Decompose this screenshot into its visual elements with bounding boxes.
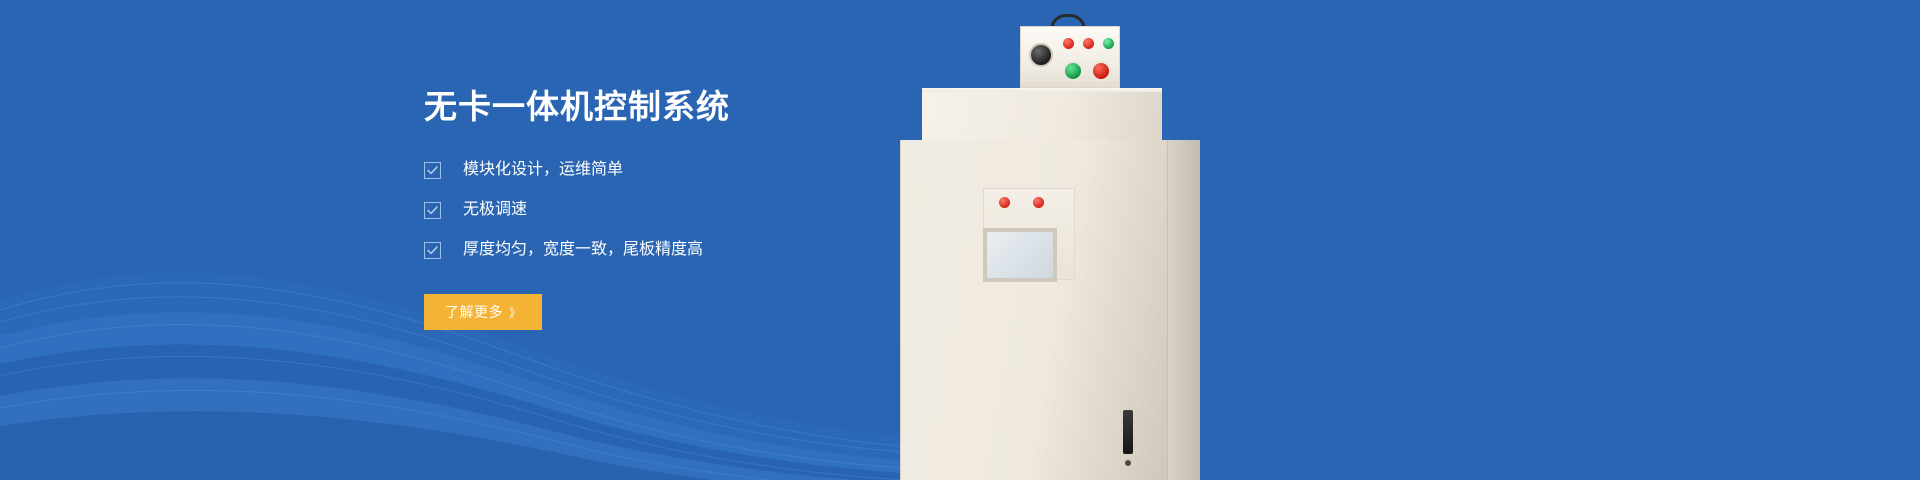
stop-button-red[interactable] [1091, 61, 1111, 81]
indicator-lamp-red-2 [1083, 38, 1094, 49]
door-lamp-red-1 [999, 197, 1010, 208]
feature-label: 模块化设计，运维简单 [463, 160, 623, 180]
feature-label: 厚度均匀，宽度一致，尾板精度高 [463, 240, 703, 260]
door-lamp-red-2 [1033, 197, 1044, 208]
cabinet-top-hood [922, 92, 1162, 140]
hero-banner: 无卡一体机控制系统 模块化设计，运维简单 无极调速 [0, 0, 1920, 480]
learn-more-button[interactable]: 了解更多 》 [424, 294, 542, 330]
start-button-green[interactable] [1063, 61, 1083, 81]
door-handle[interactable] [1123, 410, 1133, 454]
hmi-touch-screen[interactable] [983, 228, 1057, 282]
feature-item-2: 无极调速 [424, 200, 944, 220]
door-lock-dot [1125, 460, 1131, 466]
selector-knob[interactable] [1029, 43, 1053, 67]
page-title: 无卡一体机控制系统 [424, 86, 944, 128]
indicator-lamp-red-1 [1063, 38, 1074, 49]
feature-list: 模块化设计，运维简单 无极调速 厚度均匀，宽度一致，尾板精度高 [424, 160, 944, 260]
feature-item-1: 模块化设计，运维简单 [424, 160, 944, 180]
control-head-panel [1020, 26, 1120, 88]
feature-item-3: 厚度均匀，宽度一致，尾板精度高 [424, 240, 944, 260]
learn-more-label: 了解更多 [445, 302, 503, 322]
banner-content: 无卡一体机控制系统 模块化设计，运维简单 无极调速 [424, 86, 944, 330]
checkbox-checked-icon [424, 202, 441, 219]
checkbox-checked-icon [424, 242, 441, 259]
cabinet-side-panel [1168, 140, 1200, 480]
hmi-screen-surface [987, 232, 1053, 278]
chevron-right-icon: 》 [509, 304, 521, 321]
checkbox-checked-icon [424, 162, 441, 179]
feature-label: 无极调速 [463, 200, 527, 220]
indicator-lamp-green-1 [1103, 38, 1114, 49]
